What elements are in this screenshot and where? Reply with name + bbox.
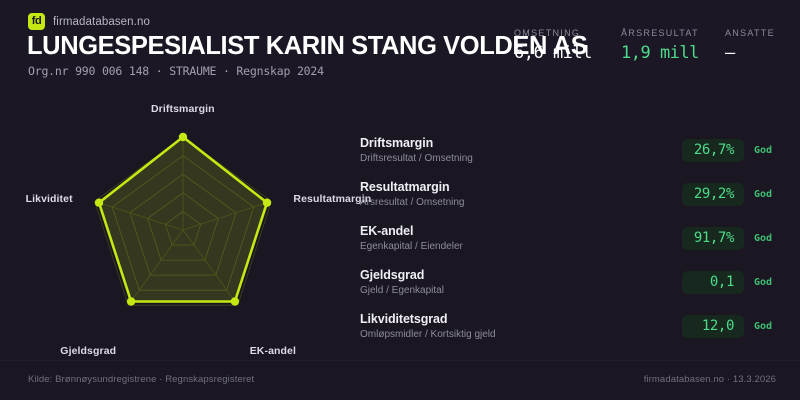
- metric-row: Driftsmargin Driftsresultat / Omsetning …: [360, 128, 780, 172]
- metric-right: 26,7% God: [682, 139, 780, 162]
- metric-name: Resultatmargin: [360, 180, 682, 195]
- metric-formula: Årsresultat / Omsetning: [360, 197, 682, 209]
- radar-axis-label-gjeldsgrad: Gjeldsgrad: [60, 345, 116, 357]
- company-subtitle: Org.nr 990 006 148 · STRAUME · Regnskap …: [28, 64, 324, 78]
- metric-value: 12,0: [682, 315, 744, 338]
- metric-formula: Gjeld / Egenkapital: [360, 285, 682, 297]
- radar-data-area: [99, 137, 267, 302]
- metric-right: 0,1 God: [682, 271, 780, 294]
- metric-name: EK-andel: [360, 224, 682, 239]
- kpi-omsetning: OMSETNING 6,6 mill: [514, 28, 621, 63]
- metric-formula: Driftsresultat / Omsetning: [360, 153, 682, 165]
- radar-axis-label-ek-andel: EK-andel: [250, 345, 296, 357]
- metric-value: 26,7%: [682, 139, 744, 162]
- metric-value: 0,1: [682, 271, 744, 294]
- metric-text: Resultatmargin Årsresultat / Omsetning: [360, 180, 682, 209]
- metric-text: EK-andel Egenkapital / Eiendeler: [360, 224, 682, 253]
- metric-row: Gjeldsgrad Gjeld / Egenkapital 0,1 God: [360, 260, 780, 304]
- status-badge: God: [754, 145, 780, 156]
- metric-formula: Omløpsmidler / Kortsiktig gjeld: [360, 329, 682, 341]
- metric-name: Likviditetsgrad: [360, 312, 682, 327]
- metric-row: EK-andel Egenkapital / Eiendeler 91,7% G…: [360, 216, 780, 260]
- kpi-group: OMSETNING 6,6 mill ÅRSRESULTAT 1,9 mill …: [514, 28, 782, 63]
- footer: Kilde: Brønnøysundregistrene · Regnskaps…: [0, 360, 800, 400]
- radar-chart: DriftsmarginResultatmarginEK-andelGjelds…: [0, 88, 352, 353]
- metric-formula: Egenkapital / Eiendeler: [360, 241, 682, 253]
- kpi-ansatte: ANSATTE –: [725, 28, 782, 63]
- radar-axis-label-driftsmargin: Driftsmargin: [151, 103, 215, 115]
- metric-row: Resultatmargin Årsresultat / Omsetning 2…: [360, 172, 780, 216]
- kpi-ansatte-value: –: [725, 43, 782, 63]
- brand[interactable]: fd firmadatabasen.no: [28, 13, 150, 30]
- metric-row: Likviditetsgrad Omløpsmidler / Kortsikti…: [360, 304, 780, 348]
- metric-right: 91,7% God: [682, 227, 780, 250]
- kpi-arsresultat: ÅRSRESULTAT 1,9 mill: [621, 28, 725, 63]
- metric-text: Likviditetsgrad Omløpsmidler / Kortsikti…: [360, 312, 682, 341]
- page-title: LUNGESPESIALIST KARIN STANG VOLDEN AS: [27, 32, 587, 61]
- footer-credit: firmadatabasen.no · 13.3.2026: [644, 374, 776, 385]
- header: fd firmadatabasen.no LUNGESPESIALIST KAR…: [0, 0, 800, 88]
- kpi-arsresultat-value: 1,9 mill: [621, 43, 725, 63]
- metric-name: Gjeldsgrad: [360, 268, 682, 283]
- kpi-omsetning-label: OMSETNING: [514, 28, 621, 38]
- metric-text: Gjeldsgrad Gjeld / Egenkapital: [360, 268, 682, 297]
- kpi-arsresultat-label: ÅRSRESULTAT: [621, 28, 725, 38]
- status-badge: God: [754, 233, 780, 244]
- kpi-ansatte-label: ANSATTE: [725, 28, 782, 38]
- brand-name: firmadatabasen.no: [53, 16, 150, 28]
- metric-value: 29,2%: [682, 183, 744, 206]
- metric-right: 29,2% God: [682, 183, 780, 206]
- status-badge: God: [754, 189, 780, 200]
- kpi-omsetning-value: 6,6 mill: [514, 43, 621, 63]
- radar-chart-svg: [0, 88, 352, 353]
- footer-source: Kilde: Brønnøysundregistrene · Regnskaps…: [28, 374, 254, 385]
- metric-value: 91,7%: [682, 227, 744, 250]
- status-badge: God: [754, 277, 780, 288]
- status-badge: God: [754, 321, 780, 332]
- metric-right: 12,0 God: [682, 315, 780, 338]
- report-card: fd firmadatabasen.no LUNGESPESIALIST KAR…: [0, 0, 800, 400]
- metric-text: Driftsmargin Driftsresultat / Omsetning: [360, 136, 682, 165]
- metric-name: Driftsmargin: [360, 136, 682, 151]
- firmadatabasen-logo-icon: fd: [28, 13, 45, 30]
- radar-axis-label-likviditet: Likviditet: [26, 193, 73, 205]
- metrics-list: Driftsmargin Driftsresultat / Omsetning …: [360, 128, 780, 348]
